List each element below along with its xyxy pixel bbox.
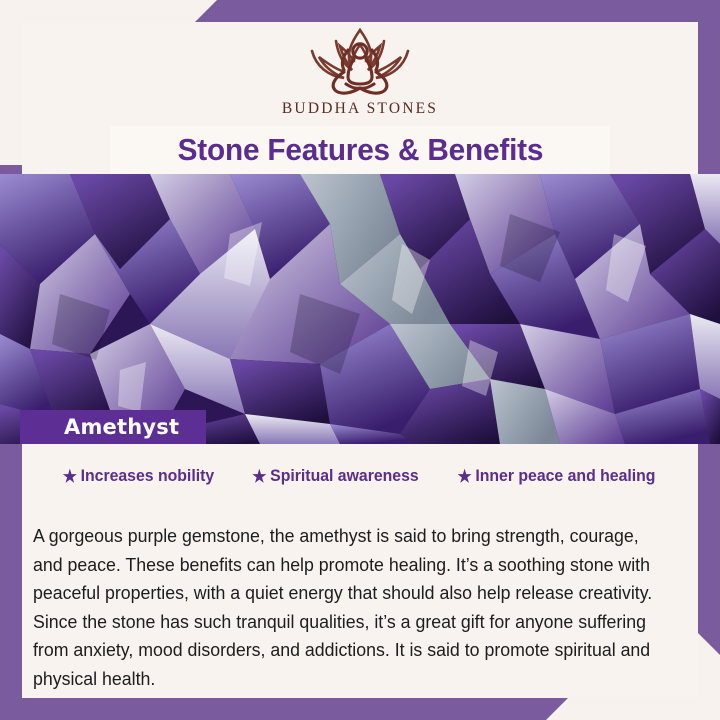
stone-name-label: Amethyst [20, 410, 206, 444]
benefit-item-2: ★ Inner peace and healing [458, 466, 656, 486]
benefit-label: Increases nobility [80, 466, 214, 486]
amethyst-crystal-cluster-photo [0, 174, 720, 444]
stone-features-infographic: BUDDHA STONES Stone Features & Benefits [0, 0, 720, 720]
star-icon: ★ [62, 468, 76, 485]
star-icon: ★ [458, 468, 472, 485]
lotus-meditation-figure-icon [0, 24, 720, 98]
brand-block: BUDDHA STONES [0, 24, 720, 118]
page-title: Stone Features & Benefits [177, 132, 543, 168]
frame-accent-bottom [0, 698, 568, 720]
brand-name: BUDDHA STONES [0, 100, 720, 118]
star-icon: ★ [252, 468, 266, 485]
benefit-item-0: ★ Increases nobility [62, 466, 213, 486]
benefit-item-1: ★ Spiritual awareness [252, 466, 418, 486]
page-title-banner: Stone Features & Benefits [110, 126, 610, 174]
benefits-row: ★ Increases nobility ★ Spiritual awarene… [22, 466, 698, 486]
benefit-label: Inner peace and healing [476, 466, 656, 486]
frame-accent-top [195, 0, 720, 22]
stone-name: Amethyst [20, 415, 179, 439]
benefit-label: Spiritual awareness [270, 466, 419, 486]
description-text: A gorgeous purple gemstone, the amethyst… [33, 522, 670, 693]
